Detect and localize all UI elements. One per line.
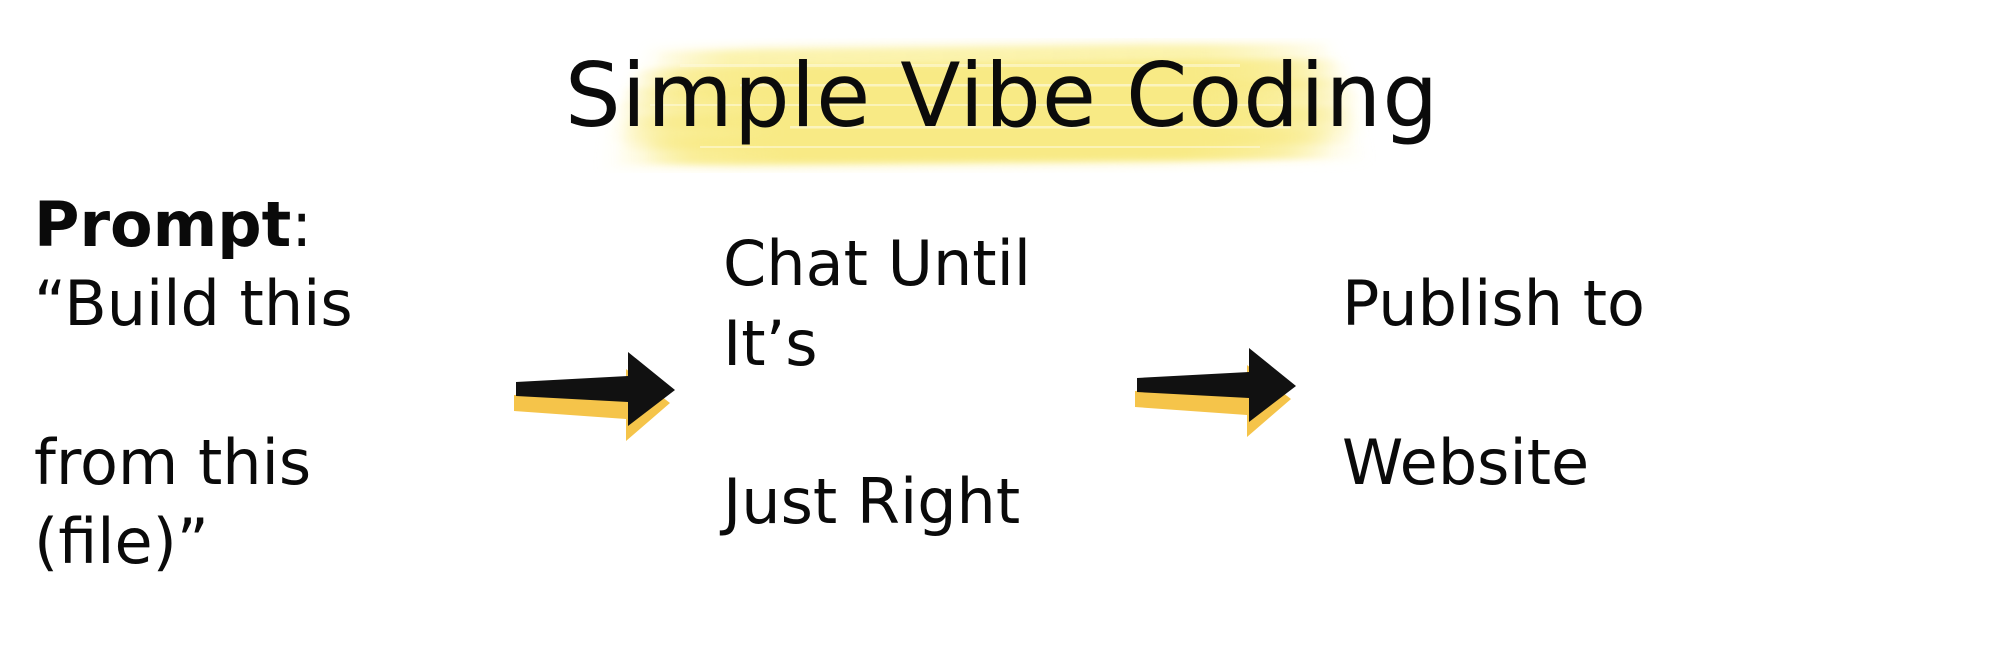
arrow-right-icon [1133, 342, 1328, 438]
flow-step-chat-line-1: Chat Until It’s [723, 224, 1123, 383]
flow-step-publish-line-1: Publish to [1342, 264, 1662, 343]
prompt-label: Prompt [34, 188, 291, 261]
arrow-right-icon [512, 346, 707, 442]
flow-step-prompt: Prompt: “Build this from this (file)” [34, 105, 504, 661]
process-flow: Prompt: “Build this from this (file)” Ch… [0, 268, 2004, 498]
flow-step-publish: Publish to Website [1342, 185, 1662, 582]
flow-step-publish-line-2: Website [1342, 423, 1662, 502]
flow-step-chat: Chat Until It’s Just Right [723, 145, 1123, 621]
arrow-right-icon-svg [512, 346, 707, 442]
arrow-right-icon-svg [1133, 342, 1328, 438]
flow-step-prompt-line-2: from this (file)” [34, 423, 504, 582]
flow-step-chat-line-2: Just Right [723, 462, 1123, 541]
flow-step-prompt-line-1: Prompt: “Build this [34, 185, 504, 344]
